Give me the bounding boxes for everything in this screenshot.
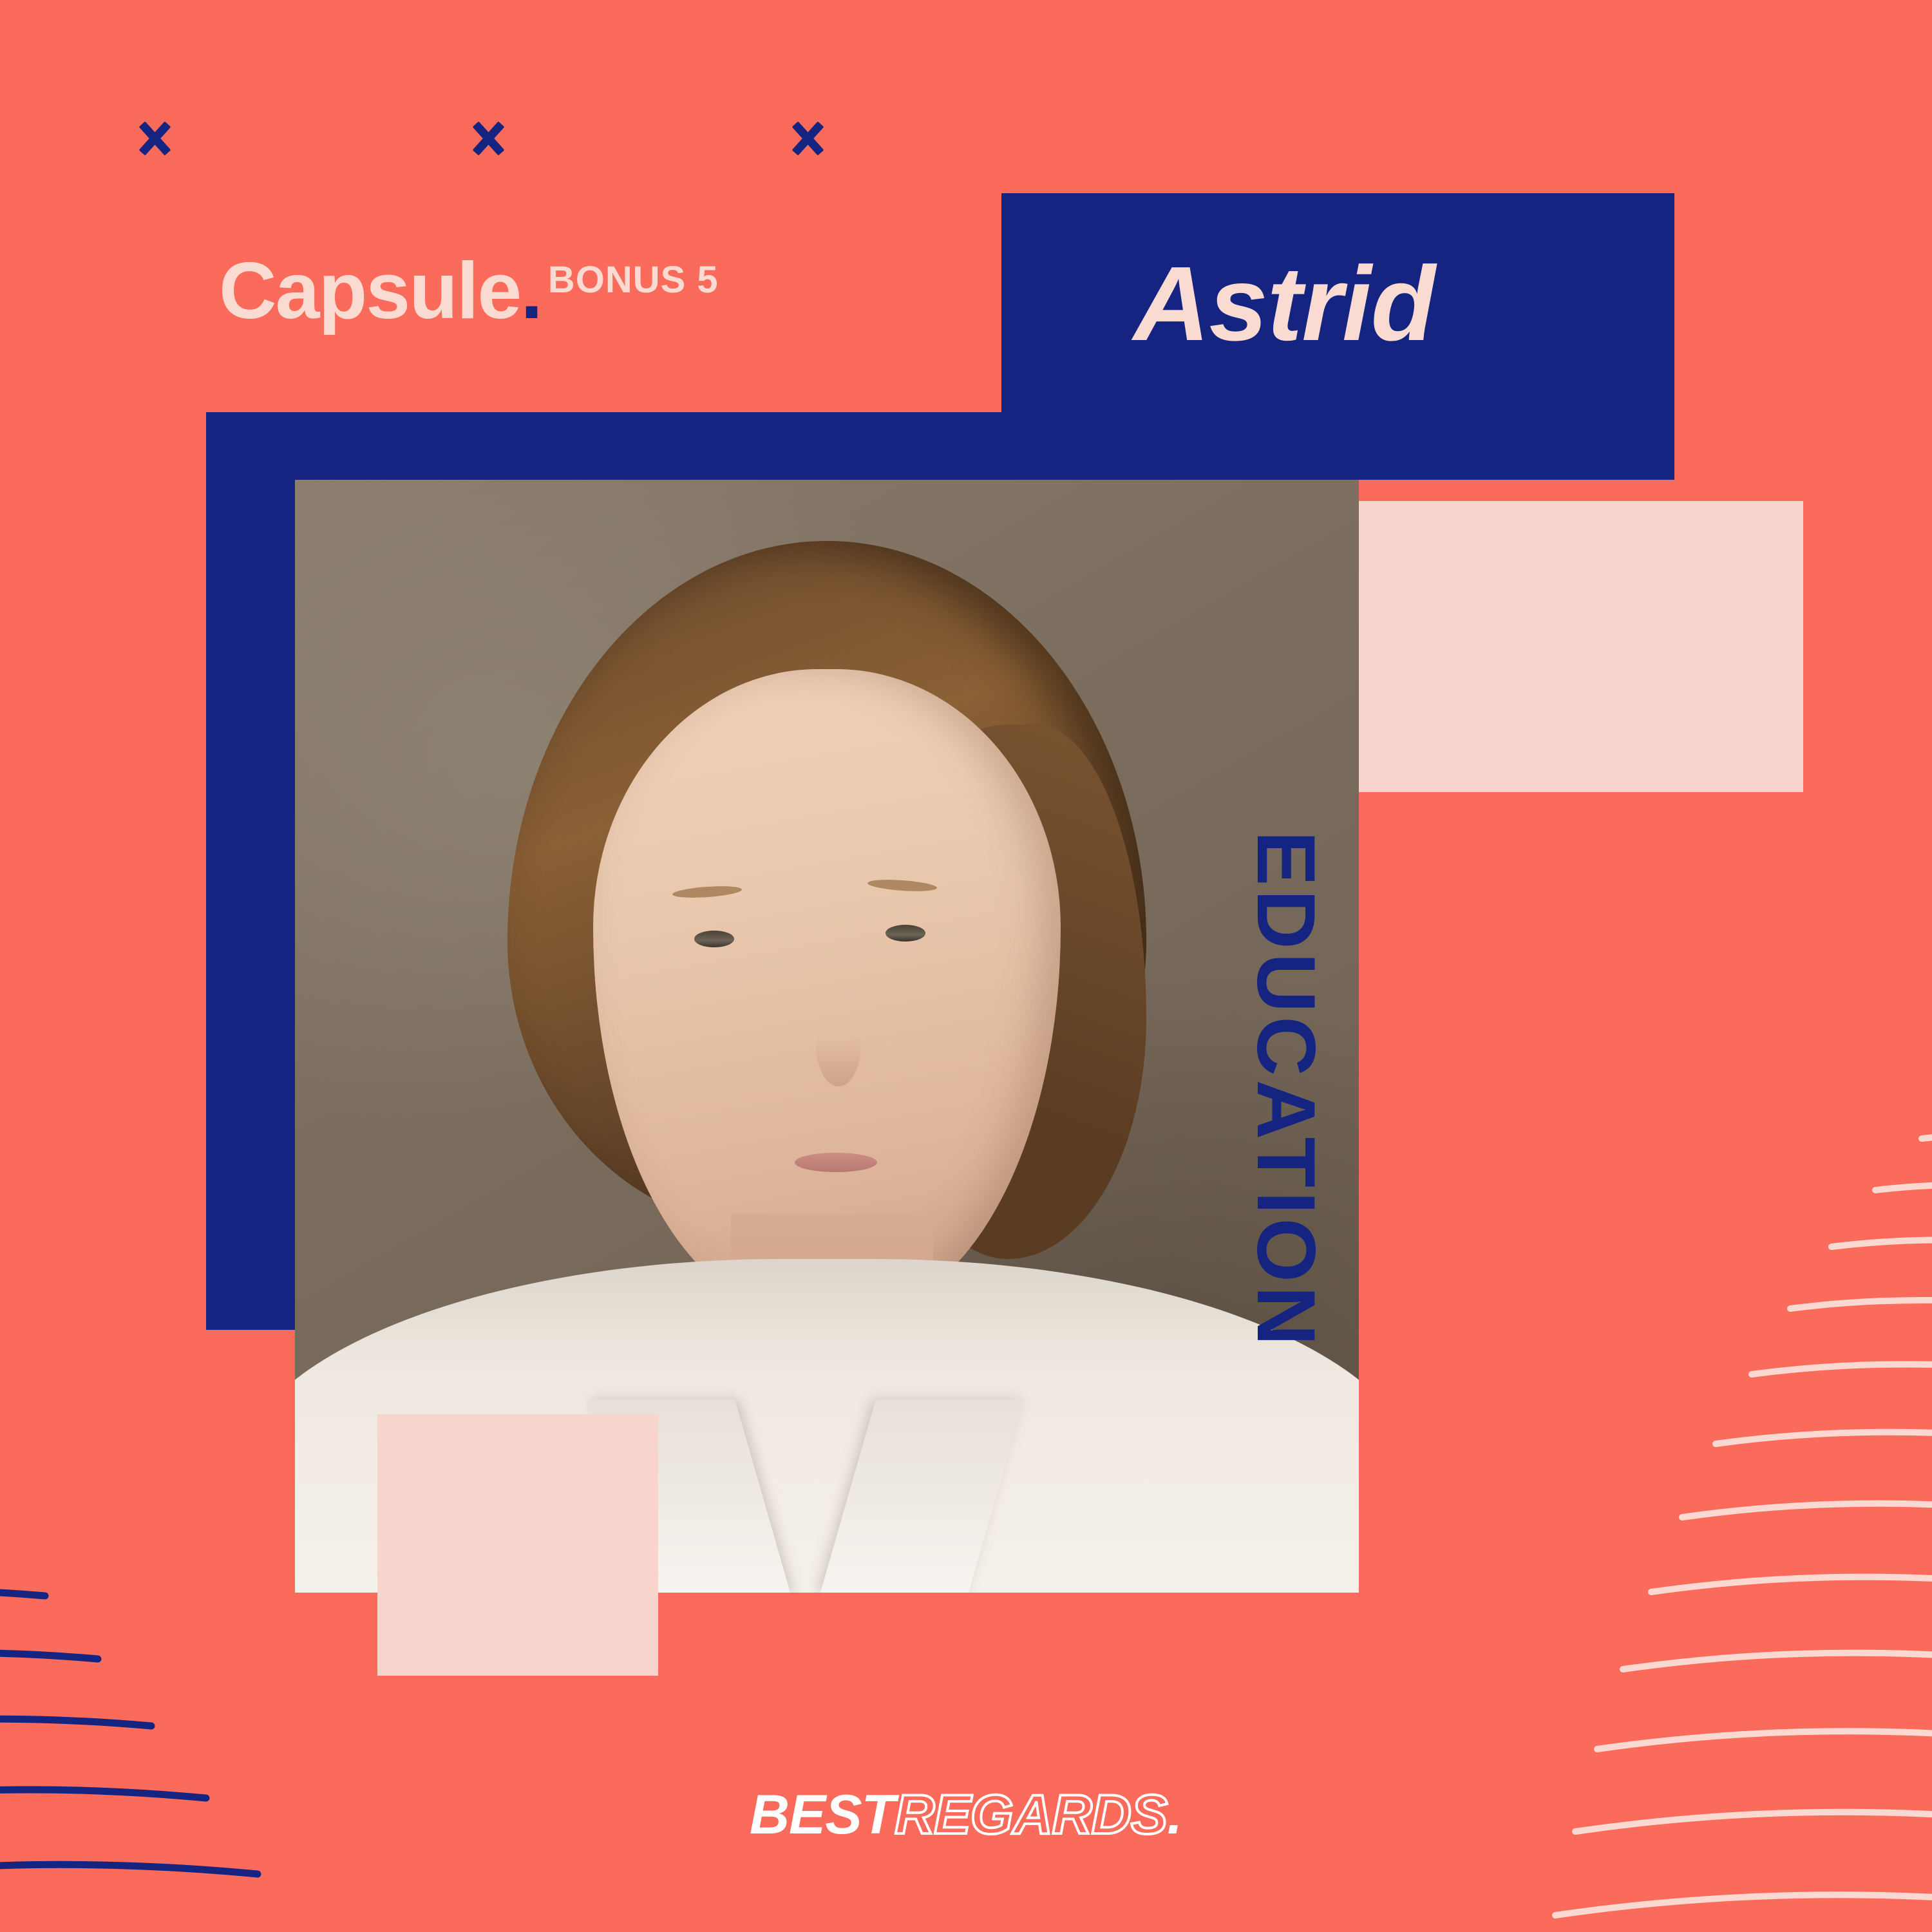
pink-accent-block-top: [1285, 501, 1803, 792]
guest-category-label: EDUCATION: [1244, 831, 1327, 1349]
pink-accent-block-bottom: [377, 1414, 658, 1676]
cross-mark-3-icon: [788, 119, 827, 158]
brand-logo: BESTREGARDS.: [0, 1787, 1932, 1842]
podcast-cover-card: Capsule . BONUS 5 Astrid EDUCATION BESTR…: [0, 0, 1932, 1932]
guest-name: Astrid: [1133, 251, 1435, 357]
series-title-group: Capsule . BONUS 5: [219, 251, 719, 331]
episode-label: BONUS 5: [548, 261, 719, 299]
cross-mark-2-icon: [469, 119, 507, 158]
series-title: Capsule: [219, 251, 520, 331]
series-title-dot: .: [520, 251, 542, 331]
brand-word-best: BEST: [750, 1784, 895, 1846]
brand-word-regards: REGARDS: [895, 1784, 1167, 1846]
brand-dot: .: [1167, 1784, 1182, 1846]
cross-mark-1-icon: [135, 119, 174, 158]
